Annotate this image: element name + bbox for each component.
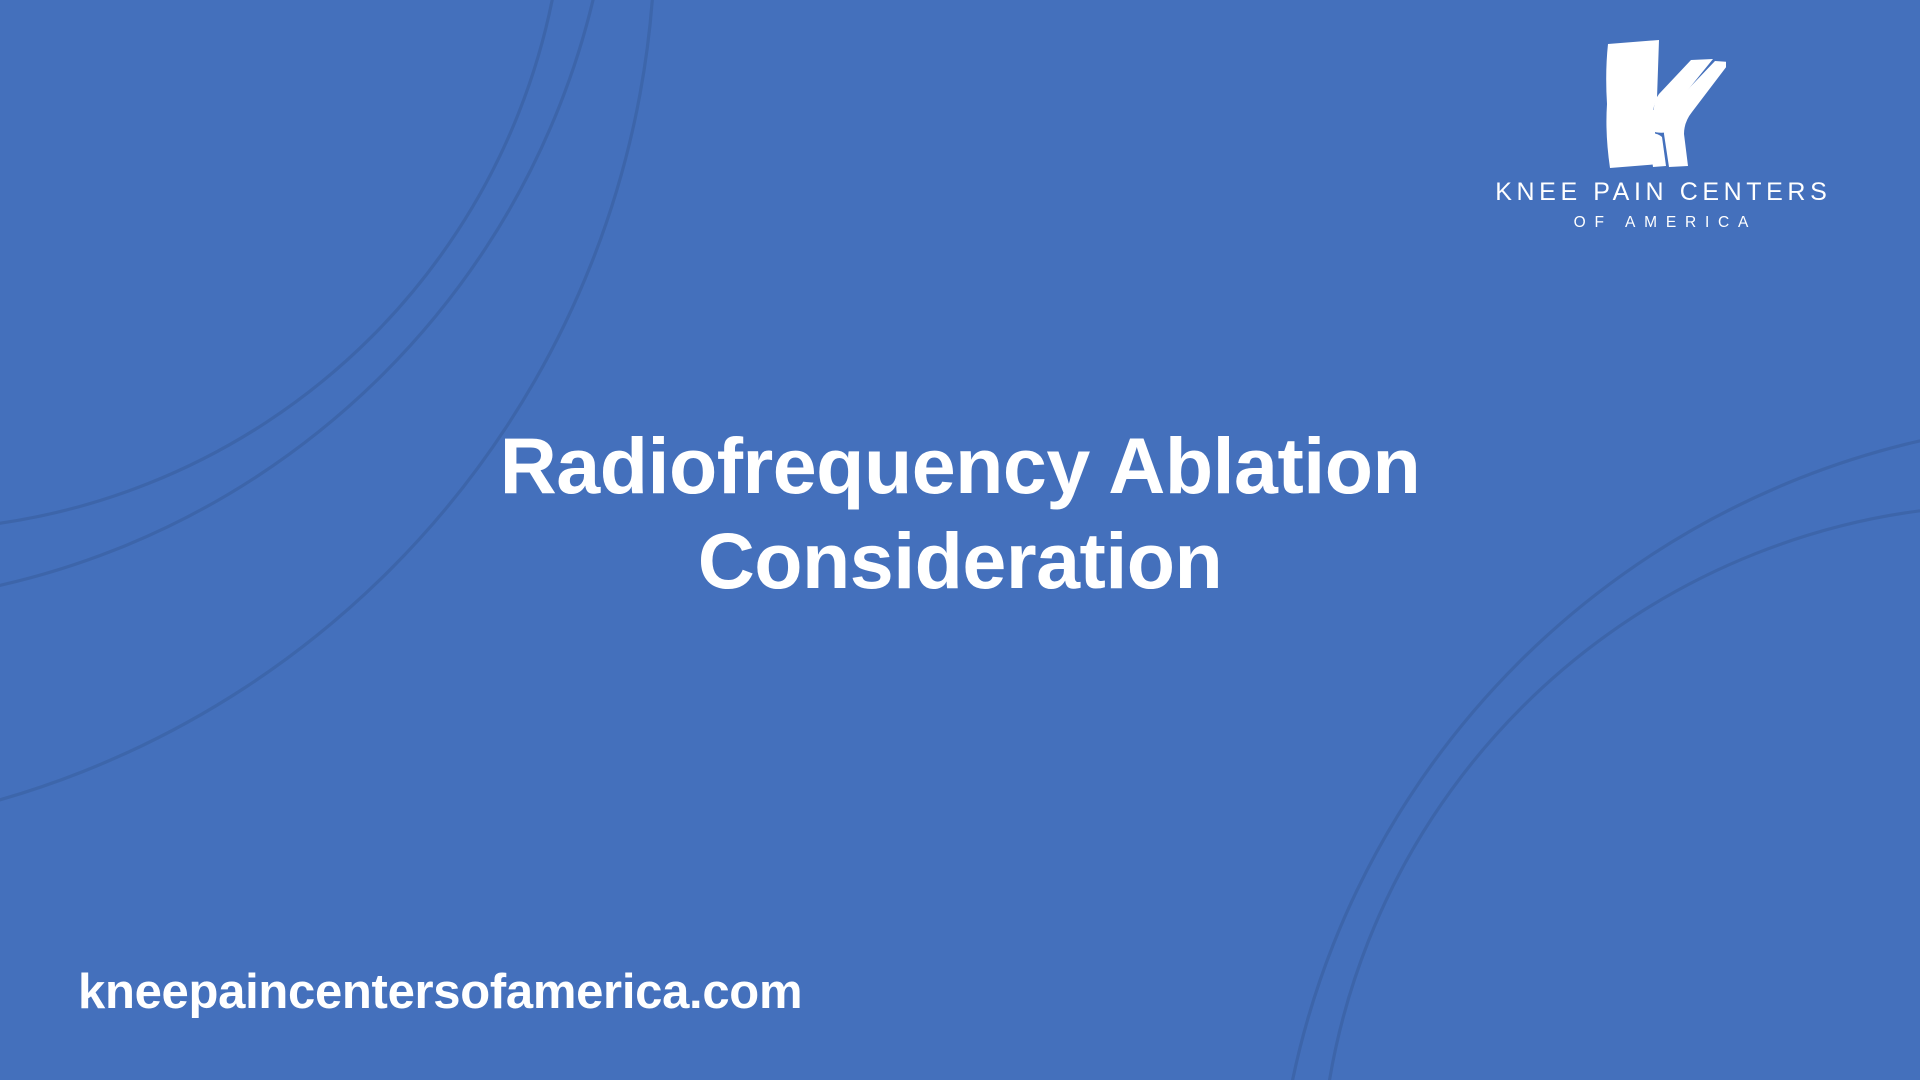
logo-name: KNEE PAIN CENTERS — [1491, 178, 1832, 207]
logo-tagline: OF AMERICA — [1565, 214, 1757, 232]
page-title-line-2: Consideration — [180, 513, 1740, 608]
website-url[interactable]: kneepaincentersofamerica.com — [78, 963, 802, 1021]
page-title-line-1: Radiofrequency Ablation — [180, 418, 1740, 513]
title-slide: KNEE PAIN CENTERS OF AMERICA Radiofreque… — [0, 0, 1920, 1080]
page-title: Radiofrequency Ablation Consideration — [0, 418, 1920, 608]
knee-joint-k-icon — [1596, 38, 1726, 170]
brand-logo: KNEE PAIN CENTERS OF AMERICA — [1482, 38, 1840, 233]
